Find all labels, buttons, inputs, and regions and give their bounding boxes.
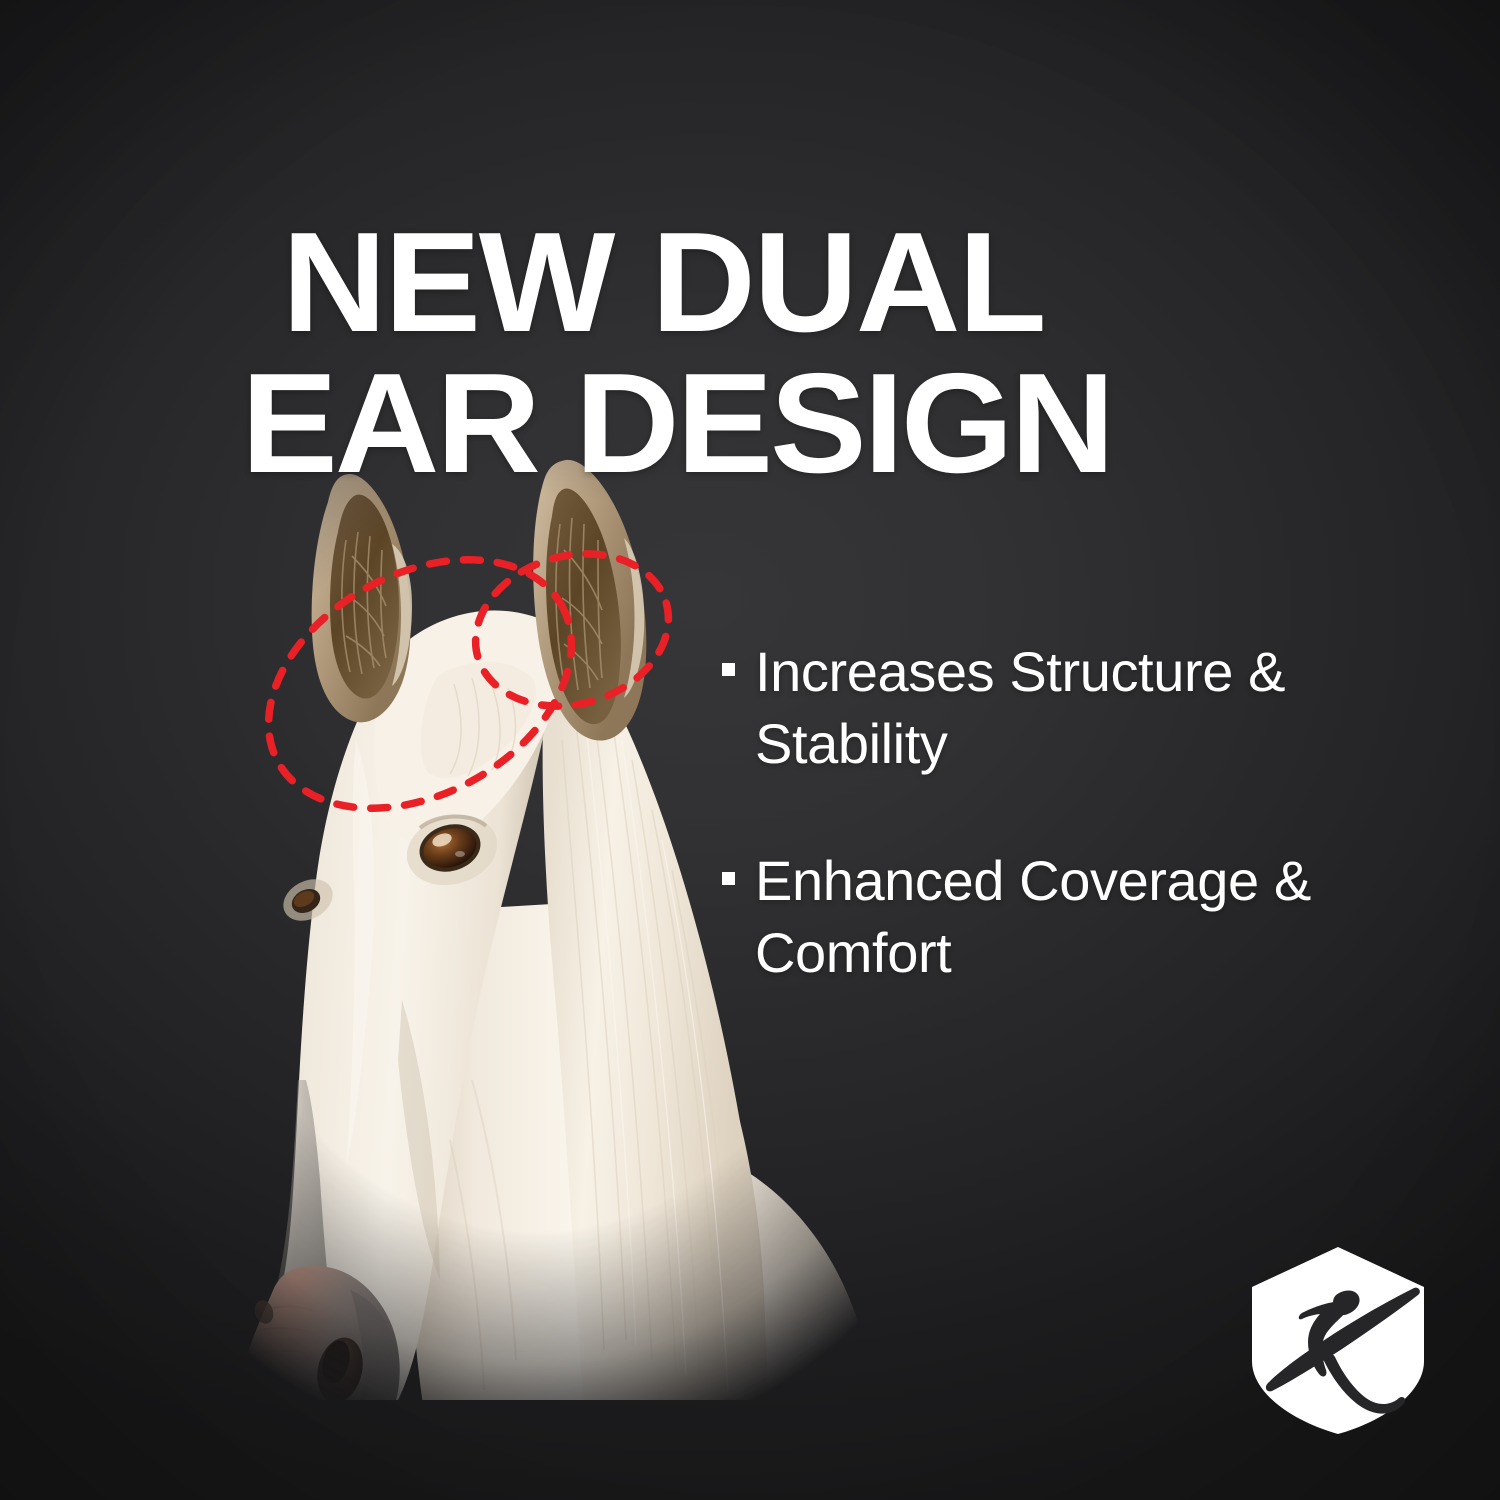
square-bullet-icon [722, 663, 735, 676]
feature-text: Enhanced Coverage & Comfort [755, 845, 1395, 988]
product-feature-banner: NEW DUAL EAR DESIGN Increases Structure … [0, 0, 1500, 1500]
feature-list: Increases Structure & Stability Enhanced… [722, 636, 1422, 989]
headline-line-1: NEW DUAL [282, 213, 1282, 354]
feature-text: Increases Structure & Stability [755, 636, 1395, 779]
shield-k-icon [1238, 1243, 1438, 1438]
list-item: Increases Structure & Stability [722, 636, 1422, 779]
square-bullet-icon [722, 872, 735, 885]
page-title: NEW DUAL EAR DESIGN [282, 213, 1282, 494]
headline-line-2: EAR DESIGN [241, 354, 1281, 495]
brand-logo [1238, 1243, 1438, 1438]
list-item: Enhanced Coverage & Comfort [722, 845, 1422, 988]
